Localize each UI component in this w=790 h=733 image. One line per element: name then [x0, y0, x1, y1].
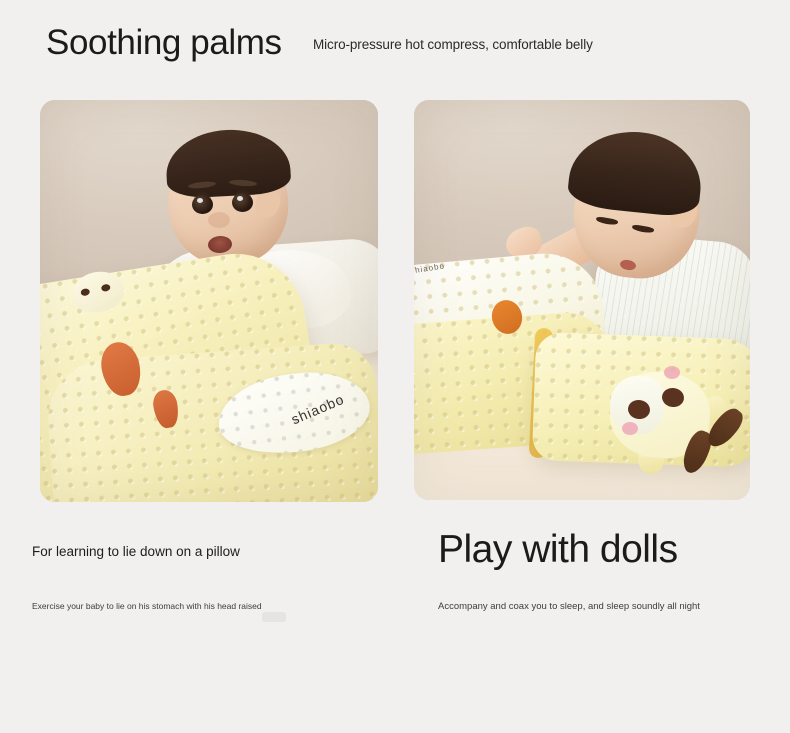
caption-title-left: For learning to lie down on a pillow	[32, 543, 240, 561]
page-title: Soothing palms	[46, 22, 282, 64]
baby-nose	[208, 212, 230, 228]
product-photo-left[interactable]: shiaobo	[40, 100, 378, 502]
page-header: Soothing palms Micro-pressure hot compre…	[0, 0, 790, 98]
plush-eye-left	[80, 288, 90, 297]
plush-cheek-right	[664, 366, 680, 379]
baby-eye-left	[192, 195, 213, 214]
caption-subtitle-right: Accompany and coax you to sleep, and sle…	[438, 600, 700, 613]
baby-eye-right	[232, 193, 253, 212]
plush-cheek-left	[622, 422, 638, 435]
compression-artifact	[262, 612, 286, 622]
page-subtitle: Micro-pressure hot compress, comfortable…	[313, 36, 593, 54]
plush-eye-right	[101, 283, 111, 292]
product-photo-right[interactable]: shiaobo	[414, 100, 750, 500]
caption-subtitle-left: Exercise your baby to lie on his stomach…	[32, 600, 262, 612]
photo-scene-left: shiaobo	[40, 100, 378, 502]
photo-scene-right: shiaobo	[414, 100, 750, 500]
caption-title-right: Play with dolls	[438, 527, 678, 573]
